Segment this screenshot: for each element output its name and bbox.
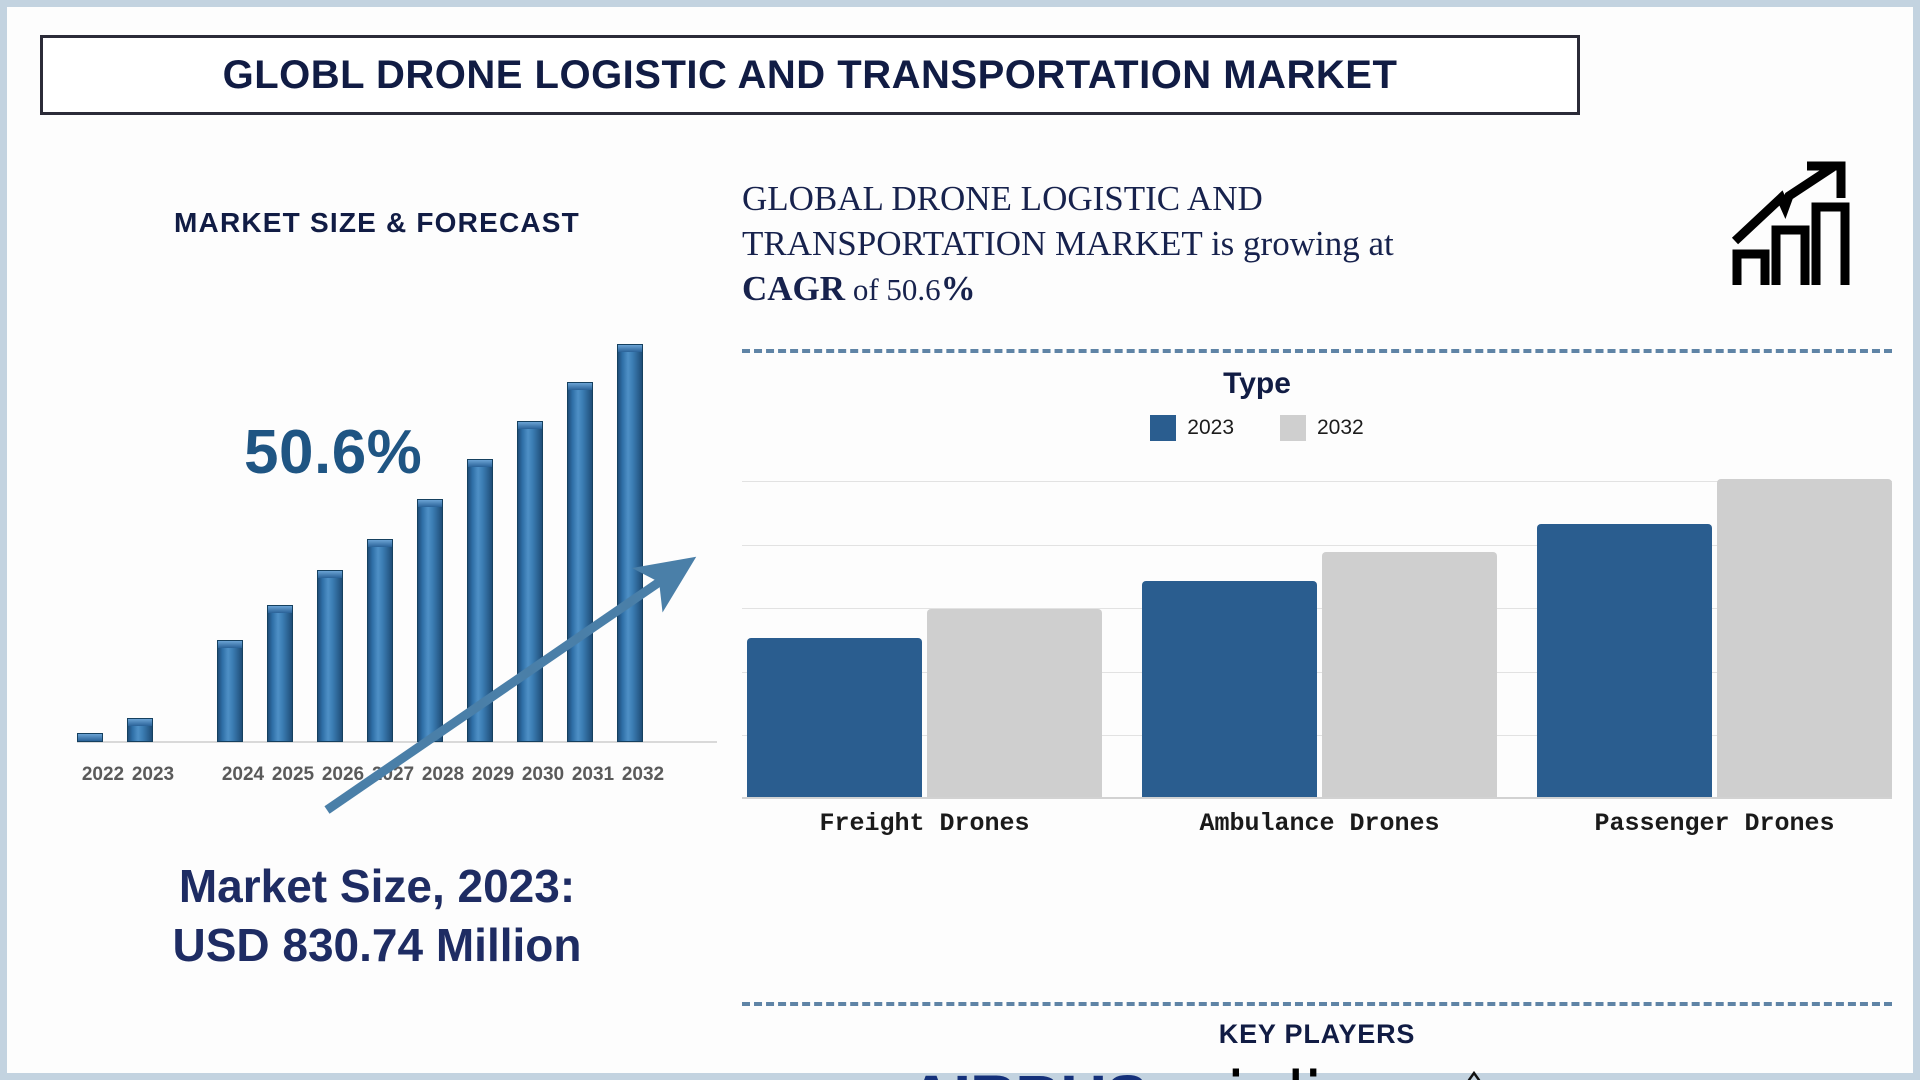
type-chart-legend: 20232032 [742,415,1772,441]
market-size-line-1: Market Size, 2023: [27,857,727,916]
type-category-labels: Freight DronesAmbulance DronesPassenger … [742,809,1892,849]
type-grouped-bar-chart [742,469,1892,799]
intro-cagr-value: 50.6 [886,272,940,307]
logo-airbus: AIRBUS [908,1061,1147,1080]
market-size-bar [267,605,293,742]
category-label: Ambulance Drones [1142,809,1497,838]
legend-item-2032[interactable]: 2032 [1280,415,1364,441]
type-bar-2023 [1537,524,1712,797]
intro-growing: is growing at [1202,224,1394,263]
logo-zipline: zipline [1191,1057,1404,1080]
intro-line-1: GLOBAL DRONE LOGISTIC AND [742,179,1263,218]
page-title: GLOBL DRONE LOGISTIC AND TRANSPORTATION … [223,53,1398,98]
type-bar-2023 [1142,581,1317,797]
market-size-line-2: USD 830.74 Million [27,916,727,975]
intro-line-2: TRANSPORTATION MARKET [742,224,1202,263]
chart-baseline [742,797,1892,799]
key-players-logos: AIRBUS zipline MATTERNET [742,1057,1892,1080]
divider-bottom [742,1002,1892,1006]
category-label: Freight Drones [747,809,1102,838]
category-label: Passenger Drones [1537,809,1892,838]
legend-label-2032: 2032 [1317,416,1364,440]
year-label: 2023 [123,764,183,786]
right-panel: GLOBAL DRONE LOGISTIC AND TRANSPORTATION… [742,157,1897,1047]
type-bar-2023 [747,638,922,797]
legend-label-2023: 2023 [1187,416,1234,440]
intro-percent: % [941,269,976,308]
left-panel: MARKET SIZE & FORECAST 20222023202420252… [27,157,727,1037]
type-chart-title: Type [742,367,1772,401]
legend-swatch-2032 [1280,415,1306,441]
type-bar-2032 [1717,479,1892,797]
market-size-bar [77,733,103,742]
intro-cagr-label: CAGR [742,269,845,308]
type-bar-2032 [927,609,1102,797]
type-bar-2032 [1322,552,1497,797]
market-size-bar [127,718,153,742]
title-banner: GLOBL DRONE LOGISTIC AND TRANSPORTATION … [40,35,1580,115]
intro-paragraph: GLOBAL DRONE LOGISTIC AND TRANSPORTATION… [742,177,1642,311]
market-size-forecast-chart: 2022202320242025202620272028202920302031… [49,262,729,802]
logo-matternet-wrap: MATTERNET [1448,1070,1726,1080]
legend-item-2023[interactable]: 2023 [1150,415,1234,441]
infographic-root: GLOBL DRONE LOGISTIC AND TRANSPORTATION … [0,0,1920,1080]
intro-of: of [845,272,886,307]
matternet-snowflake-icon [1448,1070,1500,1080]
divider-top [742,349,1892,353]
key-players-title: KEY PLAYERS [742,1019,1892,1050]
cagr-callout: 50.6% [244,417,422,488]
market-size-value: Market Size, 2023: USD 830.74 Million [27,857,727,975]
market-size-forecast-heading: MARKET SIZE & FORECAST [27,207,727,239]
growth-chart-icon [1729,157,1859,292]
legend-swatch-2023 [1150,415,1176,441]
trend-arrow-icon [319,552,709,822]
market-size-bar [217,640,243,742]
